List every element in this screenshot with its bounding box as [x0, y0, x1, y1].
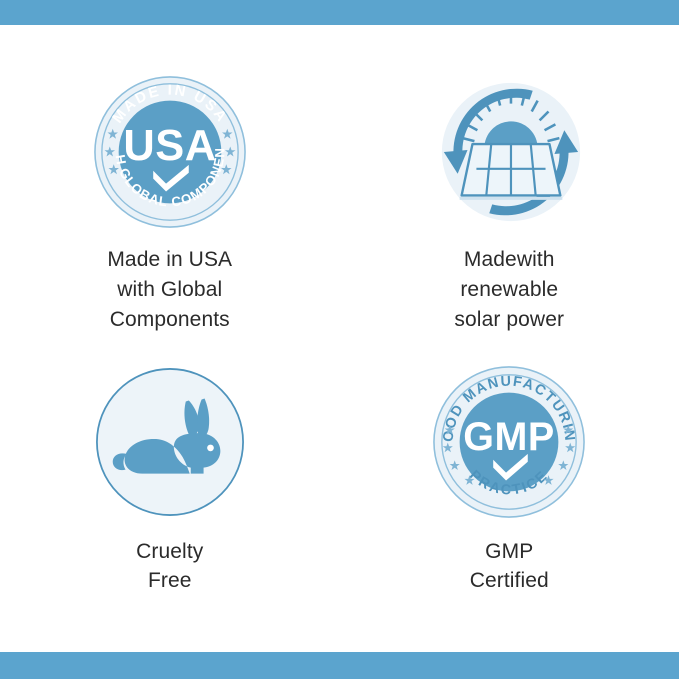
made-in-usa-seal-icon: MADE IN USA WITH GLOBAL COMPONENTS USA: [91, 73, 249, 231]
badge-grid: MADE IN USA WITH GLOBAL COMPONENTS USA: [0, 25, 679, 652]
badge-cell-made-in-usa: MADE IN USA WITH GLOBAL COMPONENTS USA: [0, 25, 340, 339]
solar-panel-renewable-icon: [430, 73, 588, 231]
top-accent-band: [0, 0, 679, 25]
badge-panel: MADE IN USA WITH GLOBAL COMPONENTS USA: [0, 0, 679, 679]
badge-caption-cruelty-free: Cruelty Free: [136, 537, 203, 597]
rabbit-cruelty-free-icon: [91, 363, 249, 521]
bottom-accent-band: [0, 652, 679, 679]
badge-cell-gmp-certified: GOOD MANUFACTURING PRACTICE: [340, 339, 679, 653]
badge-cell-solar-power: Madewith renewable solar power: [340, 25, 679, 339]
badge-caption-solar-power: Madewith renewable solar power: [454, 245, 564, 334]
badge-caption-made-in-usa: Made in USA with Global Components: [107, 245, 232, 334]
rabbit-eye-icon: [207, 444, 214, 451]
badge-caption-gmp-certified: GMP Certified: [470, 537, 549, 597]
gmp-center-text: GMP: [464, 414, 555, 458]
gmp-seal-icon: GOOD MANUFACTURING PRACTICE: [430, 363, 588, 521]
usa-center-text: USA: [123, 122, 216, 170]
badge-cell-cruelty-free: Cruelty Free: [0, 339, 340, 653]
